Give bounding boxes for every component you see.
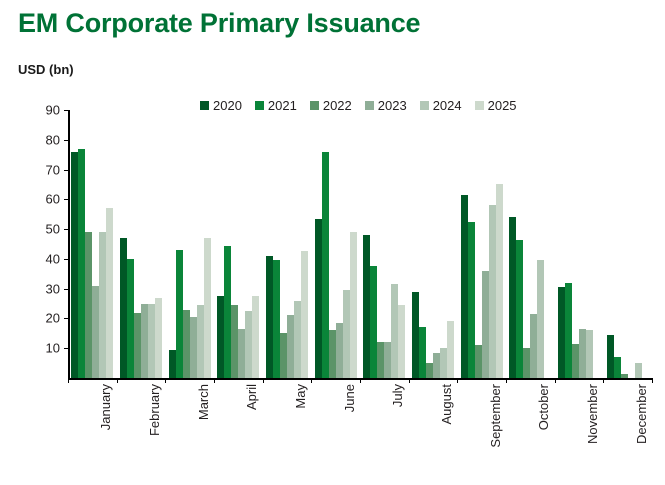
bar-group-may — [263, 110, 312, 378]
bar-2021-march[interactable] — [176, 250, 183, 378]
x-axis-tick-mark — [457, 378, 458, 383]
bar-group-july — [360, 110, 409, 378]
bar-group-september — [457, 110, 506, 378]
x-axis-tick-mark — [506, 378, 507, 383]
bar-2022-august[interactable] — [426, 363, 433, 378]
y-axis-tick-label: 10 — [46, 341, 60, 356]
y-axis-tick-label: 40 — [46, 251, 60, 266]
bar-2021-may[interactable] — [273, 260, 280, 378]
x-axis-tick-mark — [603, 378, 604, 383]
x-axis-label-august: August — [439, 384, 454, 424]
bar-2025-january[interactable] — [106, 208, 113, 378]
bar-2024-september[interactable] — [489, 205, 496, 378]
y-axis-unit-label: USD (bn) — [18, 62, 74, 77]
bar-2020-december[interactable] — [607, 335, 614, 378]
y-axis-tick-label: 80 — [46, 132, 60, 147]
bar-group-june — [311, 110, 360, 378]
y-axis-tick-label: 30 — [46, 281, 60, 296]
x-axis-tick-mark — [555, 378, 556, 383]
x-axis-label-april: April — [244, 384, 259, 410]
bar-2022-february[interactable] — [134, 313, 141, 379]
bar-2025-june[interactable] — [350, 232, 357, 378]
legend-swatch-icon — [365, 101, 374, 110]
bar-2025-april[interactable] — [252, 296, 259, 378]
bar-group-october — [506, 110, 555, 378]
x-axis-label-december: December — [634, 384, 649, 444]
x-axis-label-february: February — [147, 384, 162, 436]
x-axis-label-january: January — [98, 384, 113, 430]
bar-2023-november[interactable] — [579, 329, 586, 378]
bar-2020-july[interactable] — [363, 235, 370, 378]
x-axis-tick-mark — [214, 378, 215, 383]
bar-2022-july[interactable] — [377, 342, 384, 378]
legend-swatch-icon — [420, 101, 429, 110]
bar-2020-march[interactable] — [169, 350, 176, 378]
x-axis-tick-mark — [652, 378, 653, 383]
x-axis-label-november: November — [585, 384, 600, 444]
bar-group-december — [603, 110, 652, 378]
bar-2021-december[interactable] — [614, 357, 621, 378]
bar-2020-june[interactable] — [315, 219, 322, 378]
y-axis-tick-label: 70 — [46, 162, 60, 177]
bar-2023-august[interactable] — [433, 353, 440, 378]
bar-2021-june[interactable] — [322, 152, 329, 378]
legend-swatch-icon — [475, 101, 484, 110]
bar-2024-february[interactable] — [148, 304, 155, 378]
bar-2024-july[interactable] — [391, 284, 398, 378]
bar-group-november — [555, 110, 604, 378]
bar-2022-march[interactable] — [183, 310, 190, 378]
bar-2024-december[interactable] — [635, 363, 642, 378]
y-axis-tick-label: 90 — [46, 103, 60, 118]
bar-2021-april[interactable] — [224, 246, 231, 379]
bar-2020-august[interactable] — [412, 292, 419, 378]
bar-2021-october[interactable] — [516, 240, 523, 378]
bar-2025-may[interactable] — [301, 251, 308, 378]
bar-2020-september[interactable] — [461, 195, 468, 378]
bar-2021-september[interactable] — [468, 222, 475, 378]
bar-2022-april[interactable] — [231, 305, 238, 378]
bar-2021-august[interactable] — [419, 327, 426, 378]
bar-2021-november[interactable] — [565, 283, 572, 378]
bar-2022-september[interactable] — [475, 345, 482, 378]
bar-2024-january[interactable] — [99, 232, 106, 378]
bar-2023-january[interactable] — [92, 286, 99, 378]
legend-swatch-icon — [200, 101, 209, 110]
bar-2022-december[interactable] — [621, 374, 628, 378]
bar-2022-may[interactable] — [280, 333, 287, 378]
bar-2023-october[interactable] — [530, 314, 537, 378]
legend-swatch-icon — [310, 101, 319, 110]
legend-swatch-icon — [255, 101, 264, 110]
bar-2020-november[interactable] — [558, 287, 565, 378]
bar-2024-november[interactable] — [586, 330, 593, 378]
bar-2024-june[interactable] — [343, 290, 350, 378]
bar-2025-march[interactable] — [204, 238, 211, 378]
bar-2021-february[interactable] — [127, 259, 134, 378]
x-axis-label-july: July — [390, 384, 405, 407]
x-axis-tick-mark — [263, 378, 264, 383]
bar-group-february — [117, 110, 166, 378]
bar-2020-october[interactable] — [509, 217, 516, 378]
bar-group-august — [409, 110, 458, 378]
bar-2023-june[interactable] — [336, 323, 343, 378]
x-axis-tick-mark — [117, 378, 118, 383]
bar-2024-may[interactable] — [294, 301, 301, 378]
x-axis-tick-mark — [360, 378, 361, 383]
bar-2024-august[interactable] — [440, 348, 447, 378]
bar-2020-may[interactable] — [266, 256, 273, 378]
bar-group-april — [214, 110, 263, 378]
y-axis-tick-label: 50 — [46, 222, 60, 237]
bar-2023-may[interactable] — [287, 315, 294, 378]
bar-2020-january[interactable] — [71, 152, 78, 378]
bar-2025-august[interactable] — [447, 321, 454, 378]
bar-2023-september[interactable] — [482, 271, 489, 378]
x-axis-tick-mark — [68, 378, 69, 383]
plot-area: 102030405060708090 — [68, 110, 652, 378]
bar-2024-april[interactable] — [245, 311, 252, 378]
bar-2023-february[interactable] — [141, 304, 148, 378]
bar-2022-january[interactable] — [85, 232, 92, 378]
x-axis-tick-mark — [311, 378, 312, 383]
bar-2020-april[interactable] — [217, 296, 224, 378]
bar-2021-january[interactable] — [78, 149, 85, 378]
bar-2021-july[interactable] — [370, 266, 377, 378]
bar-group-january — [68, 110, 117, 378]
bar-2022-october[interactable] — [523, 348, 530, 378]
bar-2024-march[interactable] — [197, 305, 204, 378]
x-axis-tick-mark — [165, 378, 166, 383]
bar-2025-september[interactable] — [496, 184, 503, 378]
y-axis-tick-label: 60 — [46, 192, 60, 207]
x-axis-label-march: March — [196, 384, 211, 420]
x-axis-label-june: June — [342, 384, 357, 412]
x-axis-label-september: September — [488, 384, 503, 448]
bar-group-march — [165, 110, 214, 378]
bar-2024-october[interactable] — [537, 260, 544, 378]
bar-2023-april[interactable] — [238, 329, 245, 378]
bar-2025-july[interactable] — [398, 305, 405, 378]
bar-2023-march[interactable] — [190, 317, 197, 378]
bar-2023-july[interactable] — [384, 342, 391, 378]
x-axis-label-may: May — [293, 384, 308, 409]
bar-2022-june[interactable] — [329, 330, 336, 378]
bar-2022-november[interactable] — [572, 344, 579, 378]
page-title: EM Corporate Primary Issuance — [18, 8, 420, 39]
x-axis-tick-mark — [409, 378, 410, 383]
bar-2020-february[interactable] — [120, 238, 127, 378]
bar-2025-february[interactable] — [155, 298, 162, 378]
y-axis-tick-label: 20 — [46, 311, 60, 326]
x-axis-label-october: October — [536, 384, 551, 430]
